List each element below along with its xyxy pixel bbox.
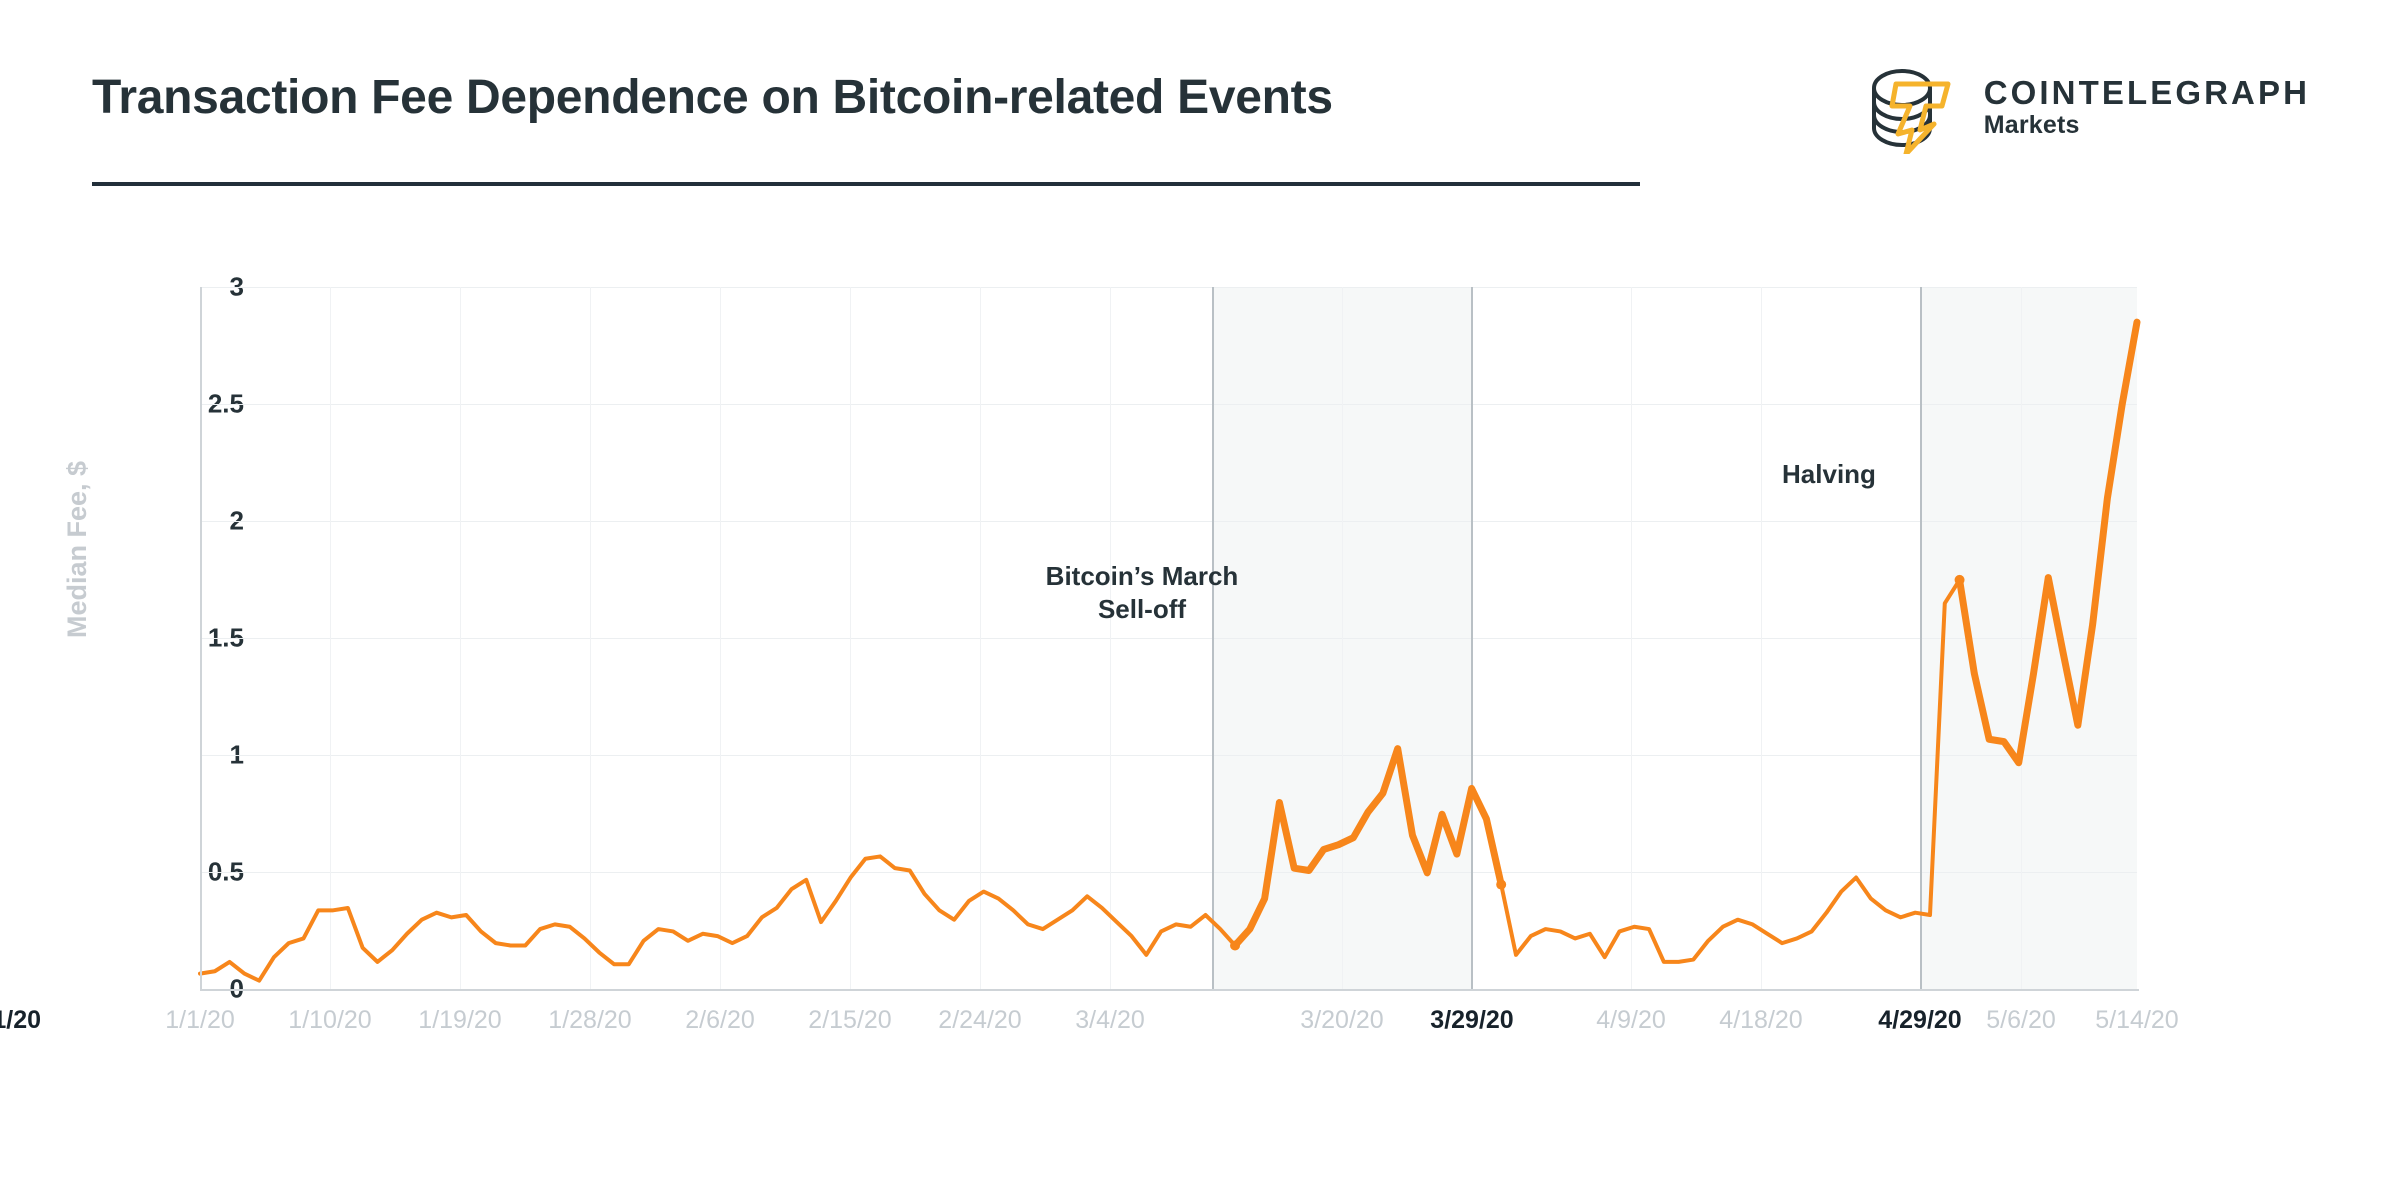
annotation-halving: Halving [1699,458,1959,491]
y-axis-line [200,287,202,990]
x-tick-2-6: 2/6/20 [685,1006,755,1035]
x-tick-3-4: 3/4/20 [1075,1006,1145,1035]
band-endpoint-marker [1496,880,1506,890]
x-tick-4-9: 4/9/20 [1596,1006,1666,1035]
x-tick-3-29: 3/29/20 [1430,1006,1513,1035]
x-tick-2-24: 2/24/20 [938,1006,1021,1035]
x-tick-1-10: 1/10/20 [288,1006,371,1035]
x-tick-5-14: 5/14/20 [2095,1006,2178,1035]
x-tick-1-28: 1/28/20 [548,1006,631,1035]
annotation-march-selloff: Bitcoin’s March Sell-off [992,560,1292,627]
band-endpoint-marker [1230,940,1240,950]
plot-area [200,287,2137,990]
x-tick-5-6: 5/6/20 [1986,1006,2056,1035]
x-tick-1-1: 1/1/20 [165,1006,235,1035]
x-tick-3-11-placeholder: 3/11/20 [0,1006,41,1035]
x-tick-4-18: 4/18/20 [1719,1006,1802,1035]
band-segment-0 [1235,749,1501,946]
band-endpoint-marker [1955,575,1965,585]
x-axis-line [200,989,2139,991]
band-segment-1 [1960,322,2137,763]
y-axis-label: Median Fee, $ [62,461,93,638]
x-tick-2-15: 2/15/20 [808,1006,891,1035]
x-tick-3-20: 3/20/20 [1300,1006,1383,1035]
x-tick-1-19: 1/19/20 [418,1006,501,1035]
chart-page: Transaction Fee Dependence on Bitcoin-re… [0,0,2400,1200]
x-tick-4-29: 4/29/20 [1878,1006,1961,1035]
fee-line-series [200,287,2137,990]
chart-figure: Median Fee, $ 3 2.5 2 1.5 1 0.5 0 1/1/20… [0,0,2400,1200]
